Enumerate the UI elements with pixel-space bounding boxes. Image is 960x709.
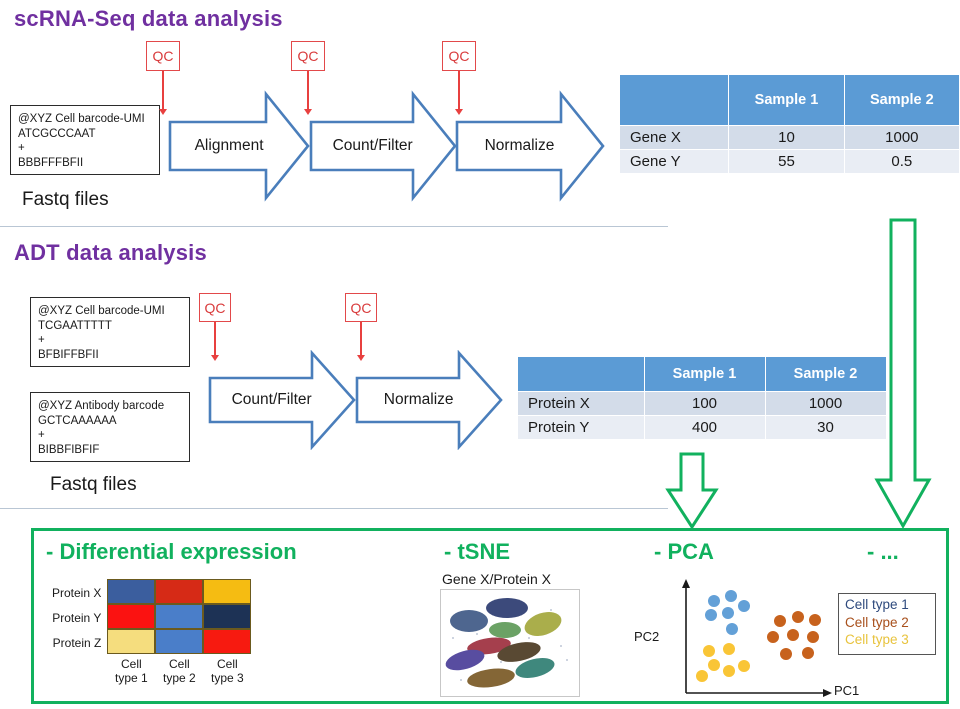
heatmap-cell [107, 604, 155, 629]
heatmap-row-label: Protein Z [52, 631, 101, 656]
process-arrow-label: Count/Filter [309, 90, 457, 202]
fastq-line: GCTCAAAAAA [38, 414, 182, 429]
process-arrow-adt-count-filter[interactable]: Count/Filter [208, 350, 356, 450]
heatmap-cell [155, 579, 203, 604]
fastq-line: TCGAATTTTT [38, 319, 182, 334]
table-cell: 55 [729, 150, 844, 174]
process-arrow-label: Normalize [455, 90, 605, 202]
table-row-header: Protein Y [518, 416, 645, 440]
fastq-line: + [38, 333, 182, 348]
process-arrow-count-filter[interactable]: Count/Filter [309, 90, 457, 202]
tsne-plot [440, 589, 580, 697]
pca-scatter-icon [674, 577, 834, 697]
qc-badge-adt-countfilter[interactable]: QC [199, 293, 231, 322]
legend-item-cell-type-1: Cell type 1 [845, 596, 929, 614]
differential-expression-heatmap: Protein X Protein Y Protein Z [52, 579, 251, 685]
heatmap-cell [155, 629, 203, 654]
table-col-header: Sample 2 [765, 357, 886, 392]
table-col-header: Sample 1 [729, 75, 844, 126]
qc-badge-adt-normalize[interactable]: QC [345, 293, 377, 322]
heatmap-cell [203, 579, 251, 604]
qc-arrow-head [159, 109, 167, 115]
table-row: Protein Y 400 30 [518, 416, 887, 440]
heatmap-cell [203, 604, 251, 629]
fastq-line: @XYZ Antibody barcode [38, 399, 182, 414]
table-cell: 1000 [844, 126, 959, 150]
section-separator-2 [0, 508, 668, 509]
heatmap-col-label: Cell type 2 [155, 657, 203, 685]
fastq-line: @XYZ Cell barcode-UMI [38, 304, 182, 319]
results-title-differential-expression: - Differential expression [46, 539, 297, 565]
table-col-header: Sample 1 [644, 357, 765, 392]
heatmap-col-label: Cell type 3 [203, 657, 251, 685]
process-arrow-label: Alignment [168, 90, 310, 202]
table-row-header: Gene Y [620, 150, 729, 174]
fastq-line: + [38, 428, 182, 443]
process-arrow-label: Normalize [355, 350, 503, 450]
tsne-caption: Gene X/Protein X [442, 571, 551, 587]
heatmap-cell [203, 629, 251, 654]
pca-x-axis-label: PC1 [834, 683, 859, 698]
process-arrow-label: Count/Filter [208, 350, 356, 450]
legend-item-cell-type-3: Cell type 3 [845, 631, 929, 649]
table-header-row: Sample 1 Sample 2 [518, 357, 887, 392]
protein-expression-table: Sample 1 Sample 2 Protein X 100 1000 Pro… [517, 356, 887, 440]
fastq-line: @XYZ Cell barcode-UMI [18, 112, 152, 127]
section-separator-1 [0, 226, 668, 227]
pca-plot [674, 577, 834, 697]
heatmap-cell [107, 629, 155, 654]
scrnaseq-section-title: scRNA-Seq data analysis [14, 6, 283, 32]
heatmap-row-label: Protein X [52, 581, 101, 606]
down-arrow-icon [874, 218, 932, 530]
table-row-header: Gene X [620, 126, 729, 150]
adt-fastq-box-cell: @XYZ Cell barcode-UMI TCGAATTTTT + BFBIF… [30, 297, 190, 367]
flow-arrow-scrnaseq-to-results [874, 218, 932, 530]
table-row-header: Protein X [518, 392, 645, 416]
qc-badge-normalize[interactable]: QC [442, 41, 476, 71]
table-cell: 400 [644, 416, 765, 440]
qc-badge-countfilter[interactable]: QC [291, 41, 325, 71]
scrnaseq-fastq-caption: Fastq files [22, 189, 109, 211]
scrnaseq-fastq-box: @XYZ Cell barcode-UMI ATCGCCCAAT + BBBFF… [10, 105, 160, 175]
table-cell: 1000 [765, 392, 886, 416]
fastq-line: BFBIFFBFII [38, 348, 182, 363]
fastq-line: ATCGCCCAAT [18, 127, 152, 142]
results-title-tsne: - tSNE [444, 539, 510, 565]
down-arrow-icon [665, 452, 719, 530]
heatmap-cell [107, 579, 155, 604]
results-panel: - Differential expression - tSNE - PCA -… [31, 528, 949, 704]
pca-y-axis-label: PC2 [634, 629, 659, 644]
table-row: Protein X 100 1000 [518, 392, 887, 416]
process-arrow-alignment[interactable]: Alignment [168, 90, 310, 202]
heatmap-row-label: Protein Y [52, 606, 101, 631]
process-arrow-adt-normalize[interactable]: Normalize [355, 350, 503, 450]
qc-badge-alignment[interactable]: QC [146, 41, 180, 71]
table-cell: 0.5 [844, 150, 959, 174]
table-cell: 30 [765, 416, 886, 440]
fastq-line: BBBFFFBFII [18, 156, 152, 171]
table-corner-cell [518, 357, 645, 392]
adt-fastq-caption: Fastq files [50, 474, 137, 496]
table-cell: 10 [729, 126, 844, 150]
heatmap-col-label: Cell type 1 [107, 657, 155, 685]
fastq-line: BIBBFIBFIF [38, 443, 182, 458]
flow-arrow-adt-to-results [665, 452, 719, 530]
results-title-more: - ... [867, 539, 899, 565]
adt-section-title: ADT data analysis [14, 240, 207, 266]
heatmap-cell [155, 604, 203, 629]
legend-item-cell-type-2: Cell type 2 [845, 614, 929, 632]
table-header-row: Sample 1 Sample 2 [620, 75, 960, 126]
gene-expression-table: Sample 1 Sample 2 Gene X 10 1000 Gene Y … [619, 74, 960, 174]
pca-legend: Cell type 1 Cell type 2 Cell type 3 [838, 593, 936, 655]
tsne-scatter-icon [441, 590, 579, 696]
table-corner-cell [620, 75, 729, 126]
adt-fastq-box-antibody: @XYZ Antibody barcode GCTCAAAAAA + BIBBF… [30, 392, 190, 462]
qc-connector-line [162, 71, 164, 110]
table-row: Gene Y 55 0.5 [620, 150, 960, 174]
table-col-header: Sample 2 [844, 75, 959, 126]
table-cell: 100 [644, 392, 765, 416]
table-row: Gene X 10 1000 [620, 126, 960, 150]
results-title-pca: - PCA [654, 539, 714, 565]
process-arrow-normalize[interactable]: Normalize [455, 90, 605, 202]
fastq-line: + [18, 141, 152, 156]
